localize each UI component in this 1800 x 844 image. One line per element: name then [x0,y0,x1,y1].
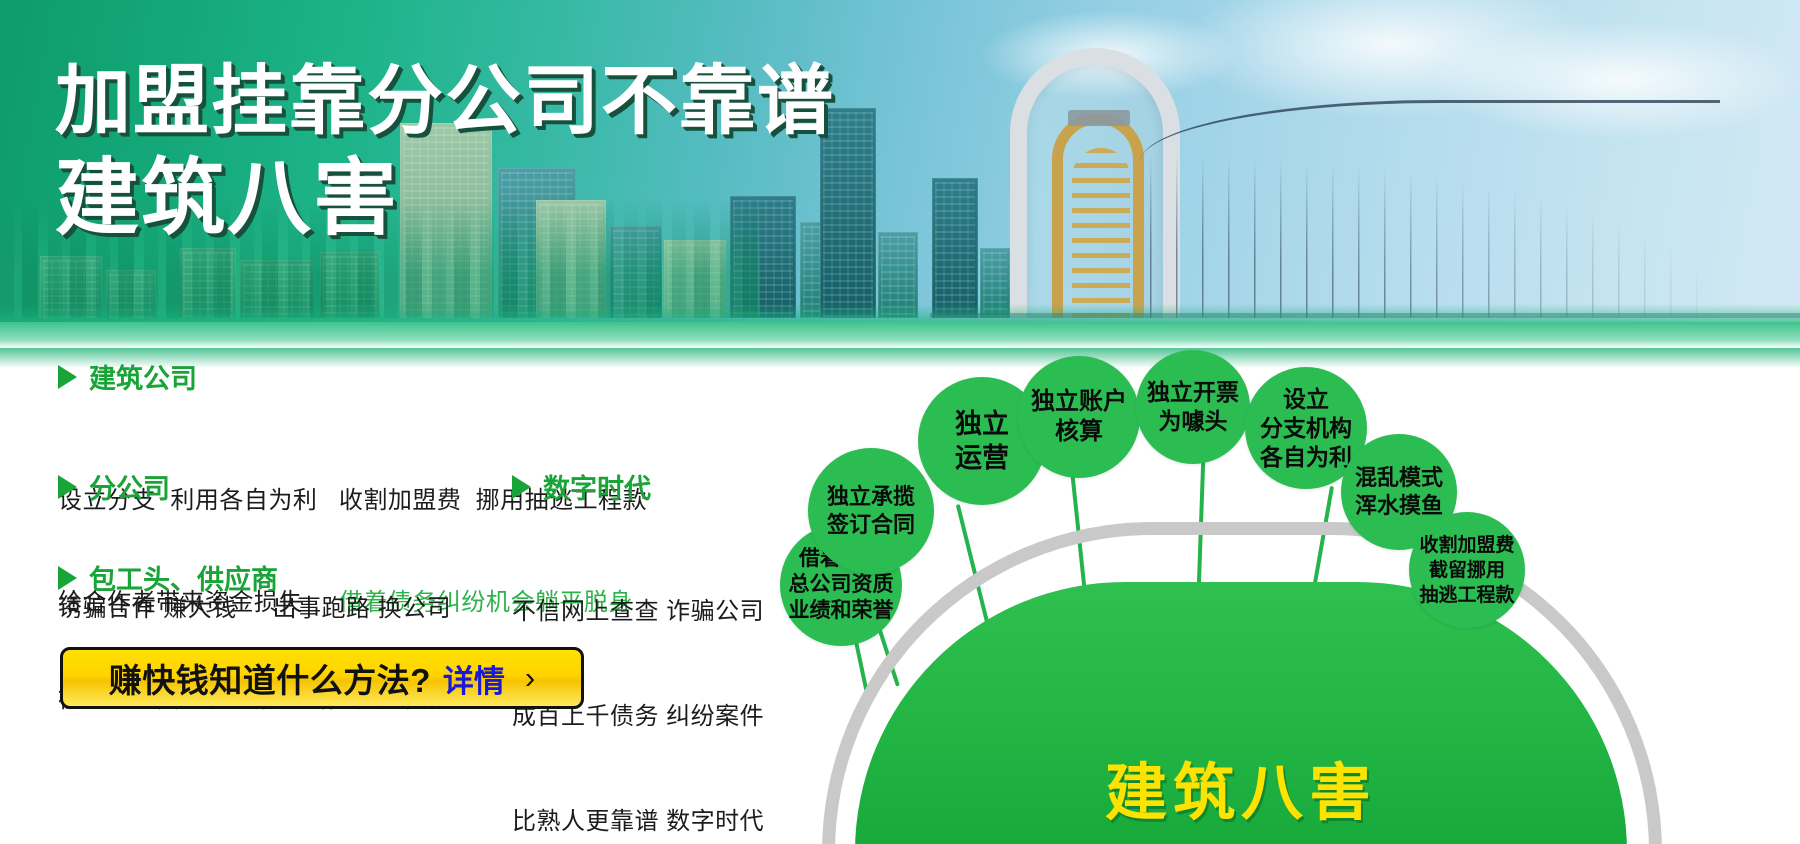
cta-main-text: 赚快钱知道什么方法? [109,654,431,702]
body-line: 不信网上查查 诈骗公司 [512,594,764,629]
cta-details-link[interactable]: 详情 [443,656,505,701]
hero-title-line2: 建筑八害 [55,150,835,246]
triangle-bullet-icon [58,566,77,590]
hero-title: 加盟挂靠分公司不靠谱 建筑八害 [55,58,835,246]
arch-sign [1068,110,1130,126]
section-title: 建筑公司 [89,357,197,396]
bubble-item[interactable]: 独立承揽 签订合同 [808,448,934,574]
section-title: 数字时代 [543,467,651,506]
bridge-suspension-cables [1150,98,1710,318]
section-heading-contractor-supplier: 包工头、供应商 [58,558,454,597]
section-title: 包工头、供应商 [89,558,278,597]
section-heading-digital-era: 数字时代 [512,467,764,506]
cta-button[interactable]: 赚快钱知道什么方法? 详情 › [60,647,584,709]
bubble-diagram: 建筑八害 借着使用 总公司资质 业绩和荣誉 独立承揽 签订合同 独立 运营 独立… [800,372,1800,844]
triangle-bullet-icon [58,365,77,389]
chevron-right-icon: › [525,660,535,696]
bubble-item[interactable]: 独立开票 为噱头 [1136,350,1250,464]
bubble-item[interactable]: 独立账户 核算 [1018,356,1140,478]
hero-banner: 加盟挂靠分公司不靠谱 建筑八害 [0,0,1800,370]
arch-ladder [1072,148,1130,318]
triangle-bullet-icon [58,475,77,499]
section-heading-branch-company: 分公司 [58,467,451,506]
body-line: 比熟人更靠谱 数字时代 [512,804,764,839]
triangle-bullet-icon [512,475,531,499]
left-content-panel: 建筑公司 设立分支 利用各自为利 收割加盟费 挪用抽逃工程款 给合作者带来资金损… [0,372,800,844]
dome-center-label: 建筑八害 [855,742,1627,832]
section-heading-construction-company: 建筑公司 [58,357,647,396]
section-title: 分公司 [89,467,170,506]
hero-title-line1: 加盟挂靠分公司不靠谱 [55,58,835,146]
bubble-item[interactable]: 收割加盟费 截留挪用 抽逃工程款 [1409,512,1525,628]
hero-baseline-band [0,322,1800,348]
